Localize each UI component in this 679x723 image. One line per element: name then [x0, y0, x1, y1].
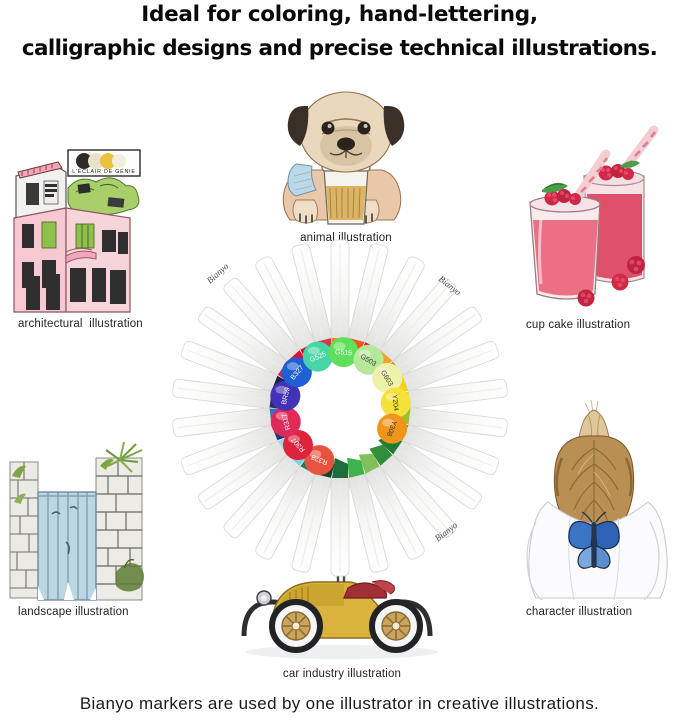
shop-sign-icon: L'ÉCLAIR DE GÉNIE [68, 150, 140, 176]
caption-cupcake: cup cake illustration [508, 319, 678, 331]
caption-landscape: landscape illustration [4, 606, 172, 618]
balcony-plants-icon [68, 178, 139, 215]
marker-cap: R317 [271, 407, 301, 437]
illustration-card-architectural: L'ÉCLAIR DE GÉNIE [4, 126, 172, 341]
marker-cap-code: G515 [335, 349, 353, 357]
caption-architectural: architectural illustration [4, 318, 172, 330]
illustration-card-animal: animal illustration [262, 84, 430, 254]
brand-mark-left: Bianyo [205, 261, 231, 286]
shop-sign-label: L'ÉCLAIR DE GÉNIE [72, 168, 135, 175]
illustration-card-landscape: landscape illustration [4, 436, 172, 626]
illustration-card-cupcake: cup cake illustration [508, 132, 678, 342]
footer-tagline: Bianyo markers are used by one illustrat… [0, 694, 679, 714]
character-illustration-image [508, 398, 678, 603]
animal-illustration-image [262, 84, 430, 234]
stone-wall-left [10, 462, 38, 598]
wheel-rear [272, 602, 320, 650]
cupcake-illustration-image [508, 132, 678, 317]
smoothie-glass-front [530, 154, 607, 299]
marker-pen [331, 458, 349, 576]
raspberry-garnish-front [542, 183, 581, 206]
caption-character: character illustration [508, 606, 678, 618]
caption-car: car industry illustration [222, 668, 462, 680]
headline-line-1: Ideal for coloring, hand-lettering, [0, 2, 679, 27]
marker-circle-hero-image: R328R307R317BR59B327G525G515G503G603Y204… [176, 250, 504, 570]
marker-cap: Y204 [381, 388, 411, 418]
product-infographic: Ideal for coloring, hand-lettering, call… [0, 0, 679, 723]
headline-line-2: calligraphic designs and precise technic… [0, 36, 679, 61]
illustration-card-character: character illustration [508, 398, 678, 626]
marker-cap: Y308 [377, 414, 407, 444]
stone-wall-right [96, 442, 144, 600]
architectural-illustration-image: L'ÉCLAIR DE GÉNIE [4, 126, 172, 316]
marker-cap: G525 [303, 342, 333, 372]
wooden-gate [38, 492, 96, 600]
landscape-illustration-image [4, 436, 172, 604]
wheel-front [372, 602, 420, 650]
